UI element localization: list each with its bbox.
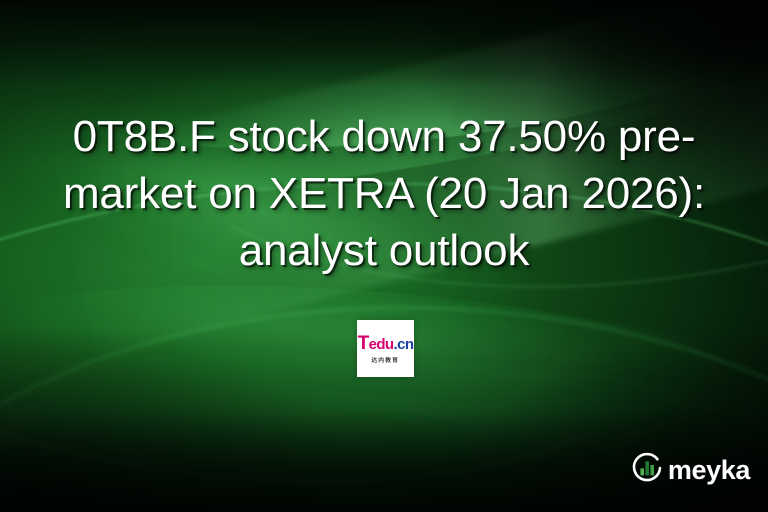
company-logo-word: edu [369,337,394,352]
meyka-wordmark: meyka [668,457,750,484]
company-logo-tld: cn [397,337,413,352]
company-logo-tedu: T edu . cn 达内教育 [357,320,414,377]
company-logo-subtitle: 达内教育 [372,356,400,364]
meyka-watermark: meyka [630,451,750,490]
meyka-circle-bars-icon [630,451,664,490]
company-logo-wordmark: T edu . cn [358,334,414,353]
headline-title: 0T8B.F stock down 37.50% pre-market on X… [0,108,768,279]
social-share-card: 0T8B.F stock down 37.50% pre-market on X… [0,0,768,512]
company-logo-initial: T [358,334,369,353]
